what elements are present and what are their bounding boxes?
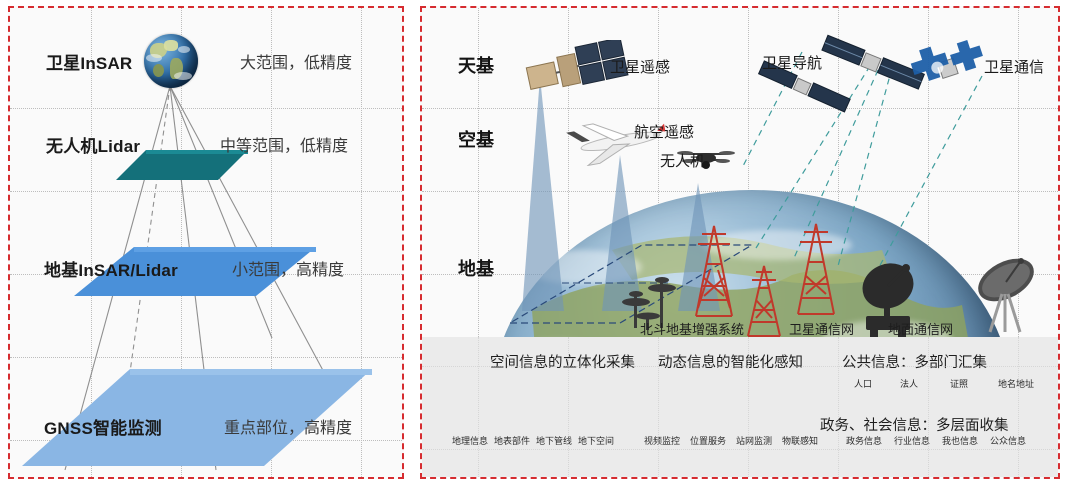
caption-band: 空间信息的立体化采集 动态信息的智能化感知 公共信息：多部门汇集 政务、社会信息… (422, 337, 1058, 477)
space-object-label-navigation: 卫星导航 (762, 52, 822, 73)
caption-sub-dynamic-1: 位置服务 (690, 434, 726, 447)
air-object-label-aerial-remote-sensing: 航空遥感 (634, 121, 694, 142)
tier-label-uav-lidar: 无人机Lidar (46, 138, 140, 155)
left-panel-inner: 卫星InSAR 大范围，低精度 无人机Lidar 中等范围，低精度 地基InSA… (10, 8, 402, 477)
tier-desc-uav-lidar: 中等范围，低精度 (220, 139, 348, 155)
caption-main-spatial-collection: 空间信息的立体化采集 (490, 351, 635, 372)
caption-sub-spatial-0: 地理信息 (452, 434, 488, 447)
air-object-label-uav: 无人机 (660, 150, 705, 171)
caption-sub-dynamic-2: 站网监测 (736, 434, 772, 447)
tier-label-ground-based: 地基 (458, 255, 494, 281)
right-panel-inner: 卫星遥感 卫星导航 (422, 8, 1058, 477)
caption-sub-spatial-1: 地表部件 (494, 434, 530, 447)
caption-main-government-social-info: 政务、社会信息：多层面收集 (820, 414, 1009, 435)
tier-desc-ground-insar-lidar: 小范围，高精度 (232, 263, 344, 279)
caption-sub-gov-2: 我也信息 (942, 434, 978, 447)
tier-desc-gnss-monitoring: 重点部位，高精度 (224, 421, 352, 437)
tier-label-satellite-insar: 卫星InSAR (46, 55, 132, 72)
tier-label-air-based: 空基 (458, 126, 494, 152)
caption-sub-gov-3: 公众信息 (990, 434, 1026, 447)
globe-icon (144, 34, 198, 88)
satellite-icon (904, 32, 994, 104)
tier-label-ground-insar-lidar: 地基InSAR/Lidar (44, 262, 178, 279)
caption-sub-gov-1: 行业信息 (894, 434, 930, 447)
space-object-label-communication: 卫星通信 (984, 56, 1044, 77)
caption-sub-public-3: 地名地址 (998, 377, 1034, 390)
caption-main-dynamic-sensing: 动态信息的智能化感知 (658, 351, 803, 372)
caption-sub-spatial-3: 地下空间 (578, 434, 614, 447)
caption-sub-public-2: 证照 (950, 377, 968, 390)
ground-object-label-beidou: 北斗地基增强系统 (640, 319, 744, 338)
caption-sub-public-0: 人口 (854, 377, 872, 390)
caption-sub-public-1: 法人 (900, 377, 918, 390)
tier-desc-satellite-insar: 大范围，低精度 (240, 56, 352, 72)
ground-object-label-satcom-net: 卫星通信网 (789, 319, 854, 338)
space-object-label-remote-sensing: 卫星遥感 (610, 56, 670, 77)
left-panel-monitoring-pyramid: 卫星InSAR 大范围，低精度 无人机Lidar 中等范围，低精度 地基InSA… (8, 6, 404, 479)
caption-sub-spatial-2: 地下管线 (536, 434, 572, 447)
parabolic-antenna-icon (962, 252, 1052, 338)
caption-sub-dynamic-0: 视频监控 (644, 434, 680, 447)
caption-sub-dynamic-3: 物联感知 (782, 434, 818, 447)
tier-label-gnss-monitoring: GNSS智能监测 (44, 420, 162, 437)
caption-sub-gov-0: 政务信息 (846, 434, 882, 447)
ground-object-label-terrestrial-net: 地面通信网 (888, 319, 953, 338)
caption-main-public-info: 公共信息：多部门汇集 (842, 351, 987, 372)
tier-label-space-based: 天基 (458, 52, 494, 78)
right-panel-spaceairground-network: 卫星遥感 卫星导航 (420, 6, 1060, 479)
